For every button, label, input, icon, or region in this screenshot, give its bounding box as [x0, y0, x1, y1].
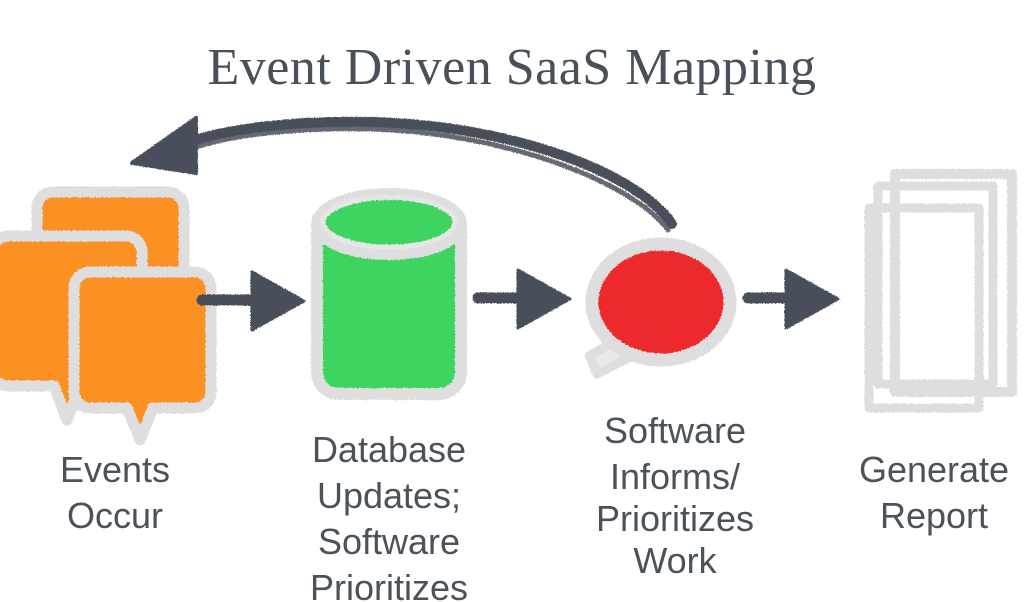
node-events-label-line2: Occur [67, 495, 163, 536]
document-stack-icon [869, 174, 1012, 408]
database-cylinder-icon [317, 194, 461, 394]
arrow-software-to-report [748, 270, 838, 328]
speech-bubble-front-icon [74, 272, 211, 440]
node-report-label-line2: Report [880, 495, 988, 536]
node-events-label-line1: Events [60, 449, 170, 490]
node-software-label-line4: Work [633, 540, 717, 581]
node-database-label-line4: Prioritizes [310, 567, 468, 602]
node-software-label-line2: Informs/ [610, 456, 740, 497]
node-database-label-line2: Updates; [317, 475, 461, 516]
node-database-label-line1: Database [312, 429, 466, 470]
node-software-label-line1: Software [604, 410, 746, 451]
node-software-label-line3: Prioritizes [596, 498, 754, 539]
arrow-database-to-software [478, 270, 570, 328]
node-software[interactable]: Software Informs/ Prioritizes Work [589, 244, 754, 581]
node-database[interactable]: Database Updates; Software Prioritizes [310, 194, 468, 602]
event-driven-saas-mapping-diagram: Event Driven SaaS Mapping [0, 0, 1024, 602]
node-report[interactable]: Generate Report [859, 174, 1012, 536]
speech-bubble-icon [589, 244, 730, 374]
node-report-label-line1: Generate [859, 449, 1009, 490]
node-events[interactable]: Events Occur [0, 192, 211, 536]
node-database-label-line3: Software [318, 521, 460, 562]
page-title: Event Driven SaaS Mapping [208, 39, 817, 96]
arrow-events-to-database [202, 272, 304, 330]
diagram-canvas: Event Driven SaaS Mapping [0, 0, 1024, 602]
